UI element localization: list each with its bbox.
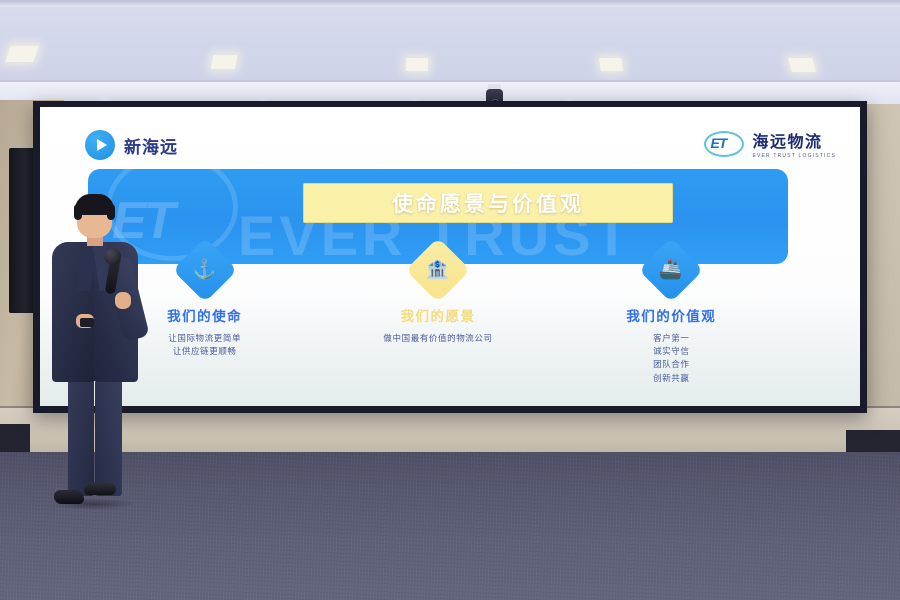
pillar-values-line-1: 客户第一 [653,332,689,345]
presenter-shoe-right [84,482,116,495]
cargo-ship-icon: 🚢 [639,237,704,302]
pillar-values-line-4: 创新共赢 [653,372,689,385]
pillar-values-line-3: 团队合作 [653,358,689,371]
slide-right-brand: ET 海远物流 EVER TRUST LOGISTICS [704,128,836,159]
pillar-vision-line-1: 做中国最有价值的物流公司 [383,332,492,345]
wall-right [866,104,900,434]
microphone-head-icon [104,248,121,265]
presenter-hand-right [115,292,131,309]
bank-building-icon: 🏦 [405,237,470,302]
pillar-vision-heading: 我们的愿景 [400,305,475,325]
et-logo-icon: ET [704,130,744,158]
pillar-mission-line-2: 让供应链更顺畅 [173,345,237,358]
et-mark-label: ET [710,135,726,151]
projection-screen-frame: 新海远 ET 海远物流 EVER TRUST LOGISTICS ET EVER… [33,101,867,413]
pillar-mission-line-1: 让国际物流更简单 [168,332,241,345]
ceiling-light-2 [211,55,237,69]
ceiling-light-4 [599,58,623,71]
right-brand-cn: 海远物流 [752,128,836,152]
ceiling-light-3 [406,58,428,71]
right-brand-en: EVER TRUST LOGISTICS [752,153,836,159]
ceiling-light-1 [5,46,38,62]
presentation-slide: 新海远 ET 海远物流 EVER TRUST LOGISTICS ET EVER… [40,107,860,406]
ship-wheel-badge-icon: ⚓ [172,237,237,302]
presentation-clicker-icon [80,318,94,327]
slide-left-brand: 新海远 [85,130,178,160]
play-circle-icon [85,130,115,160]
presenter [36,196,154,520]
slide-pillars: ⚓ 我们的使命 让国际物流更简单 让供应链更顺畅 🏦 我们的愿景 做中国最有价值… [88,247,788,397]
slide-title: 使命愿景与价值观 [392,188,584,218]
ceiling-edge [0,0,900,7]
pillar-values-heading: 我们的价值观 [626,305,716,325]
presenter-shoe-left [54,490,84,504]
left-brand-label: 新海远 [124,133,178,158]
presenter-legs [62,378,130,496]
pillar-values-line-2: 诚实守信 [653,345,689,358]
pillar-values: 🚢 我们的价值观 客户第一 诚实守信 团队合作 创新共赢 [555,247,788,397]
presenter-hair-side-right [107,204,115,220]
slide-title-chip: 使命愿景与价值观 [303,183,673,223]
ceiling [0,0,900,88]
right-brand-block: 海远物流 EVER TRUST LOGISTICS [752,128,836,159]
ceiling-light-5 [788,58,815,72]
wall-speaker-panel [9,148,36,313]
presenter-hair-side-left [74,204,82,220]
pillar-mission-heading: 我们的使命 [167,305,242,325]
conference-room-scene: 新海远 ET 海远物流 EVER TRUST LOGISTICS ET EVER… [0,0,900,600]
pillar-vision: 🏦 我们的愿景 做中国最有价值的物流公司 [321,247,554,397]
